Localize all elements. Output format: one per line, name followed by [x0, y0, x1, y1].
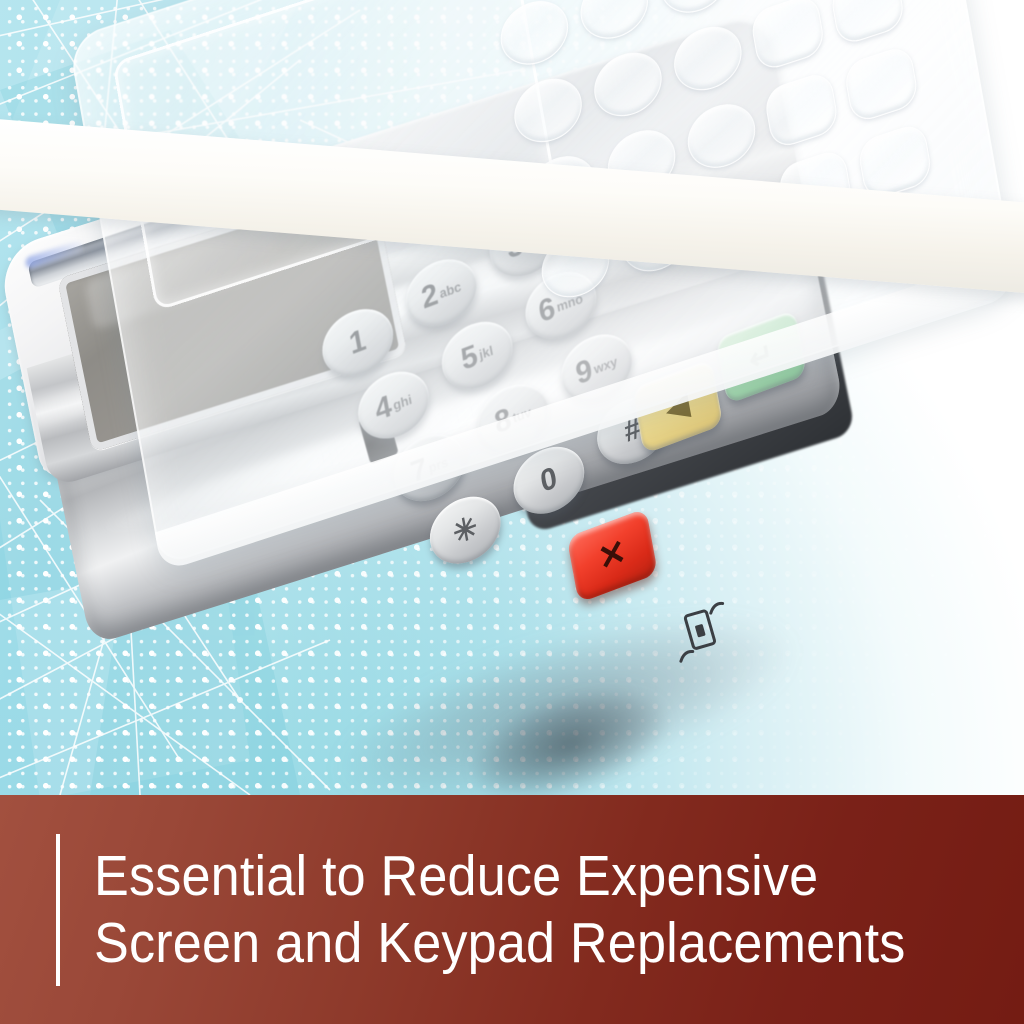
cancel-key[interactable]: ✕: [567, 508, 658, 603]
banner-headline: Essential to Reduce Expensive Screen and…: [94, 843, 906, 976]
product-feature-image: 1 2abc 3def 4ghi 5jkl 6mno 7prs 8tuv 9wx…: [0, 0, 1024, 1024]
key-star[interactable]: ✳: [425, 486, 506, 574]
banner-accent-rule: [56, 834, 60, 986]
product-photo: 1 2abc 3def 4ghi 5jkl 6mno 7prs 8tuv 9wx…: [0, 0, 1024, 800]
headline-banner: Essential to Reduce Expensive Screen and…: [0, 795, 1024, 1024]
headline-line-2: Screen and Keypad Replacements: [94, 910, 906, 977]
headline-line-1: Essential to Reduce Expensive: [94, 843, 906, 910]
